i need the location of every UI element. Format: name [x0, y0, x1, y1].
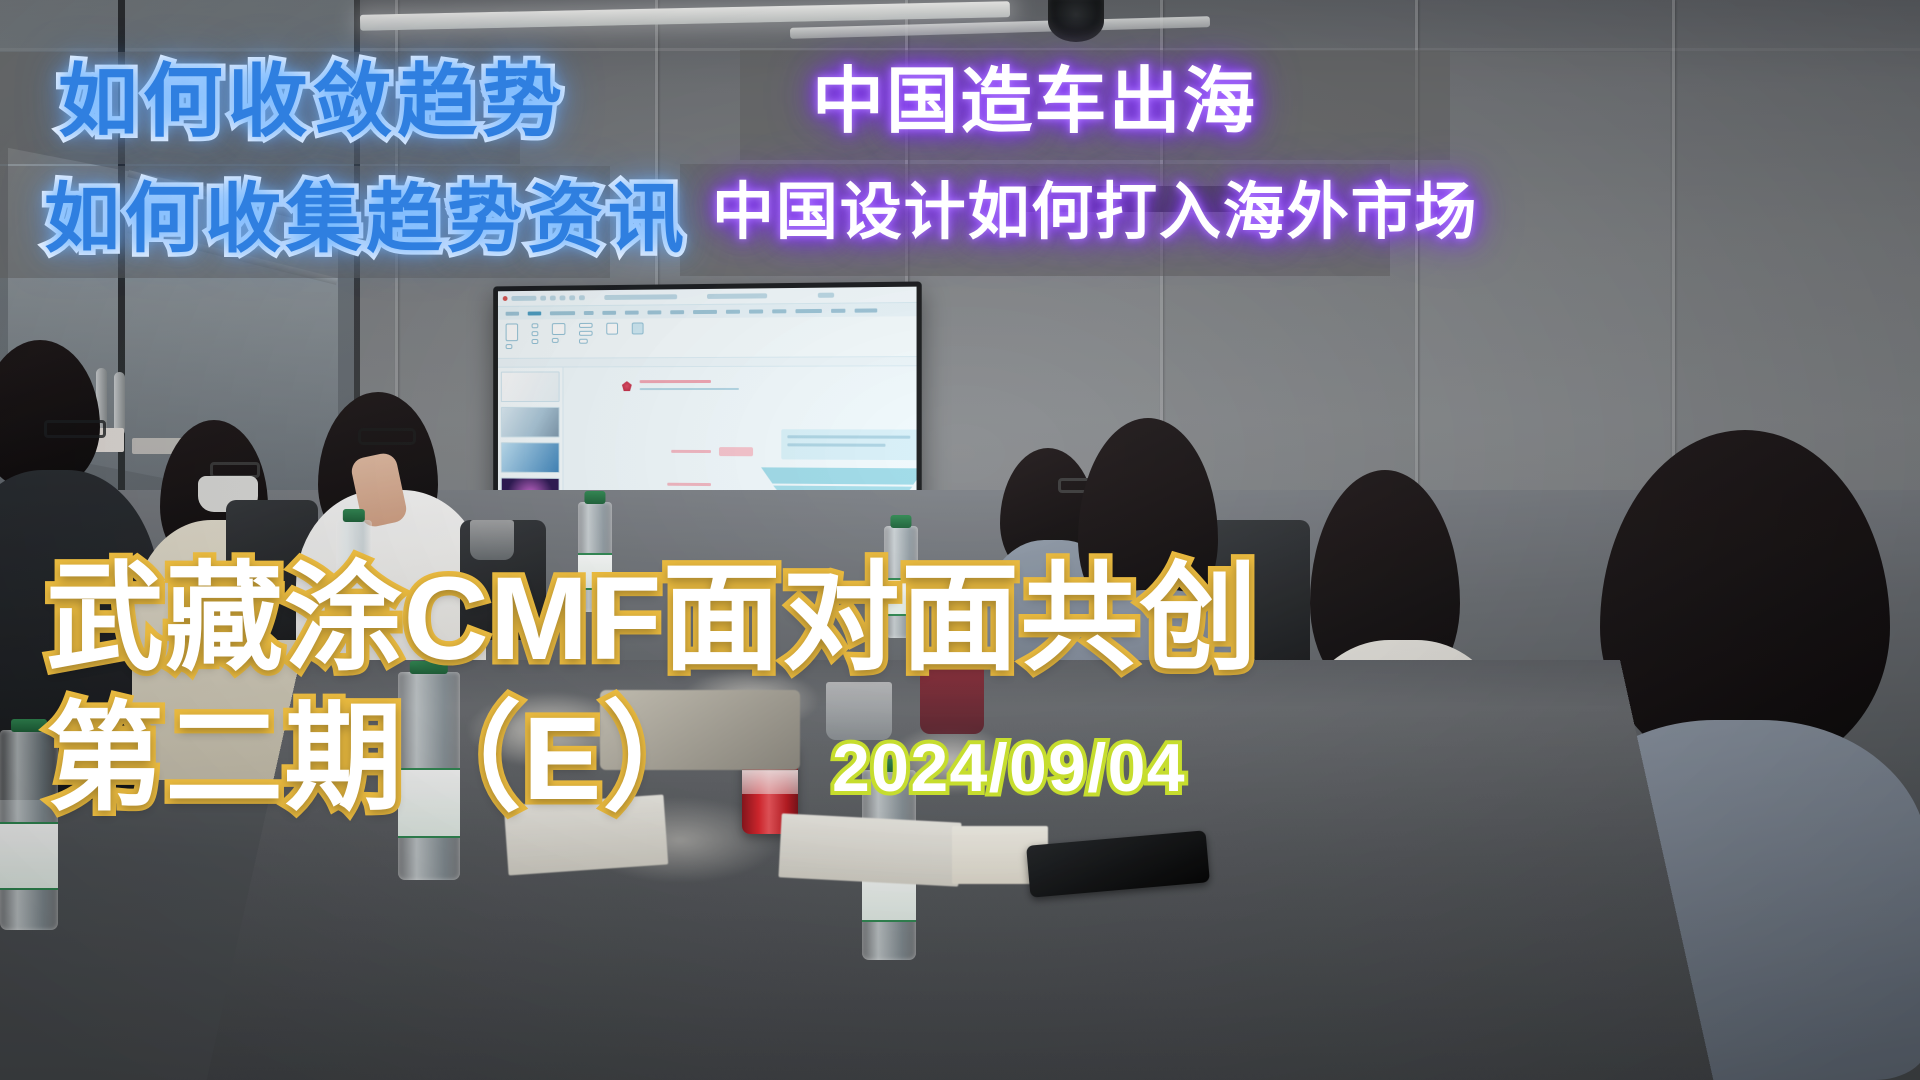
titlebar-chip: [560, 295, 566, 300]
ribbon-group: [579, 323, 593, 354]
new-slide-icon: [552, 323, 566, 335]
ribbon-tab: [550, 311, 575, 315]
ribbon-tab: [795, 308, 821, 312]
ribbon-icon: [579, 323, 593, 328]
overlay-text-top-left-1: 如何收敛趋势: [58, 62, 567, 142]
bottle-cap: [11, 719, 47, 732]
titlebar-chip: [511, 296, 536, 301]
titlebar-chip: [540, 296, 546, 301]
paper-sheet: [778, 813, 961, 886]
ribbon-icon: [579, 331, 593, 336]
ribbon-tab: [602, 310, 616, 314]
ribbon-icon: [506, 344, 513, 349]
ribbon-icon: [552, 338, 559, 343]
ribbon-tab: [855, 308, 878, 312]
overlay-text-top-right-1: 中国造车出海: [812, 66, 1257, 138]
slide-label-line: [667, 483, 711, 486]
ribbon-tab: [670, 310, 684, 314]
slide-tag: [719, 447, 753, 456]
main-title-line-1: 武藏涂CMF面对面共创: [46, 560, 1259, 678]
titlebar-chip: [818, 293, 834, 298]
slide-logo-icon: [622, 381, 632, 391]
dome-camera-icon: [1048, 0, 1104, 42]
eyeglasses-icon: [358, 428, 416, 445]
shape-icon: [606, 323, 618, 335]
ribbon-icon: [579, 339, 588, 344]
bottle-cap: [890, 515, 911, 528]
overlay-text-top-left-2: 如何收集趋势资讯: [44, 182, 688, 258]
ribbon-tab: [625, 310, 639, 314]
ribbon-icon: [532, 339, 539, 344]
ribbon-tab: [831, 308, 845, 312]
display-screen: [498, 287, 917, 520]
ribbon-group: [606, 323, 618, 354]
wall-display: [493, 281, 922, 524]
bottle-label: [0, 822, 58, 890]
ribbon-tab: [648, 310, 662, 314]
slide-text-line: [787, 443, 885, 446]
ribbon-icon: [532, 323, 539, 328]
main-title-line-2: 第二期（E）: [46, 700, 722, 818]
titlebar-chip: [569, 295, 575, 300]
funnel-segment: [761, 467, 916, 484]
slide-label-line: [671, 450, 711, 453]
ribbon-group: [552, 323, 566, 354]
eyeglasses-icon: [44, 420, 106, 438]
document-name-chip: [604, 294, 677, 300]
ribbon-group: [632, 322, 644, 353]
bottle-cap: [343, 509, 365, 522]
titlebar-chip: [550, 296, 556, 301]
can-label: [742, 770, 798, 794]
ribbon-tab: [693, 309, 717, 313]
ribbon-tab: [506, 311, 519, 315]
ribbon-group: [506, 323, 518, 354]
slide-subheading-line: [640, 388, 739, 390]
ribbon-tab: [772, 309, 786, 313]
ribbon-icon: [532, 331, 539, 336]
app-logo-icon: [503, 296, 508, 301]
ribbon-toolbar: [498, 316, 917, 359]
door-handle: [114, 372, 125, 436]
titlebar-chip: [707, 293, 767, 299]
ribbon-group: [532, 323, 539, 354]
slide-thumbnail[interactable]: [501, 371, 560, 402]
ribbon-tab: [749, 309, 763, 313]
ribbon-tab-active: [528, 311, 541, 315]
slide-heading-line: [640, 380, 711, 383]
table-icon: [632, 322, 644, 334]
slide-text-line: [787, 435, 910, 438]
video-thumbnail-frame: 如何收敛趋势 如何收集趋势资讯 中国造车出海 中国设计如何打入海外市场 武藏涂C…: [0, 0, 1920, 1080]
paste-icon: [506, 323, 518, 341]
titlebar-chip: [579, 295, 585, 300]
slide-thumbnail[interactable]: [501, 407, 560, 438]
slide-thumbnail[interactable]: [501, 442, 560, 473]
ribbon-tab: [584, 310, 594, 314]
date-label: 2024/09/04: [832, 734, 1186, 802]
overlay-text-top-right-2: 中国设计如何打入海外市场: [712, 182, 1478, 244]
ribbon-tab: [726, 309, 740, 313]
bottle-cap: [584, 491, 605, 504]
